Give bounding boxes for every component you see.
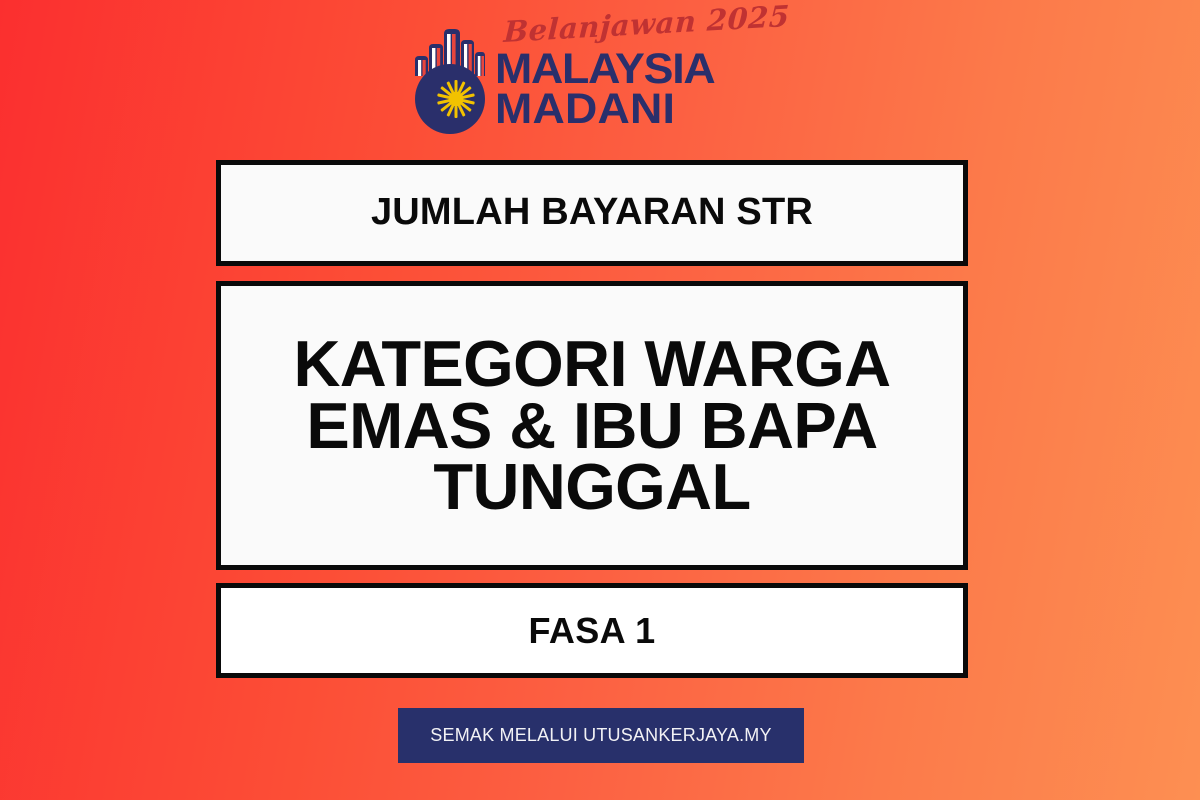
logo-wordmark: Belanjawan 2025 MALAYSIA MADANI [495, 18, 789, 129]
logo-name-line1: MALAYSIA [495, 49, 714, 89]
check-website-banner[interactable]: SEMAK MELALUI UTUSANKERJAYA.MY [398, 708, 804, 763]
subtitle-text: JUMLAH BAYARAN STR [371, 192, 813, 234]
subtitle-panel: JUMLAH BAYARAN STR [216, 160, 968, 266]
logo-name-line2: MADANI [495, 89, 675, 129]
headline-text: KATEGORI WARGA EMAS & IBU BAPA TUNGGAL [221, 333, 963, 518]
logo-inner: Belanjawan 2025 MALAYSIA MADANI [411, 18, 789, 136]
logo-tagline: Belanjawan 2025 [503, 2, 790, 47]
malaysia-madani-logo: Belanjawan 2025 MALAYSIA MADANI [0, 18, 1200, 136]
check-website-label: SEMAK MELALUI UTUSANKERJAYA.MY [430, 725, 771, 746]
malaysia-madani-logo-icon [411, 24, 489, 136]
phase-panel: FASA 1 [216, 583, 968, 678]
headline-panel: KATEGORI WARGA EMAS & IBU BAPA TUNGGAL [216, 281, 968, 570]
phase-text: FASA 1 [528, 610, 655, 652]
